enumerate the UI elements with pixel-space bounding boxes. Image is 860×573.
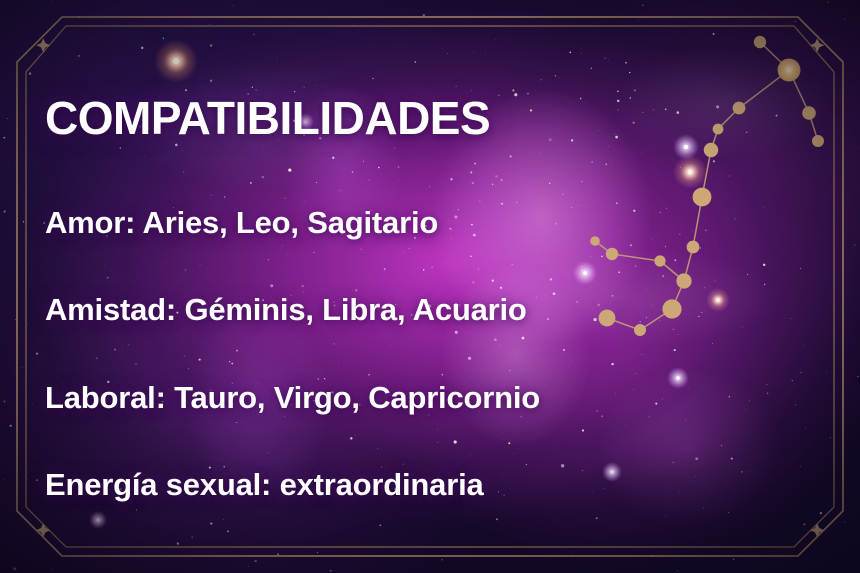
compatibility-line-energia: Energía sexual: extraordinaria: [45, 467, 484, 503]
page-title: COMPATIBILIDADES: [45, 91, 490, 145]
compatibility-line-laboral: Laboral: Tauro, Virgo, Capricornio: [45, 380, 540, 416]
horoscope-compatibility-card: COMPATIBILIDADES Amor: Aries, Leo, Sagit…: [0, 0, 860, 573]
compatibility-line-amor: Amor: Aries, Leo, Sagitario: [45, 205, 438, 241]
card-content: COMPATIBILIDADES Amor: Aries, Leo, Sagit…: [45, 0, 745, 573]
compatibility-line-amistad: Amistad: Géminis, Libra, Acuario: [45, 292, 527, 328]
